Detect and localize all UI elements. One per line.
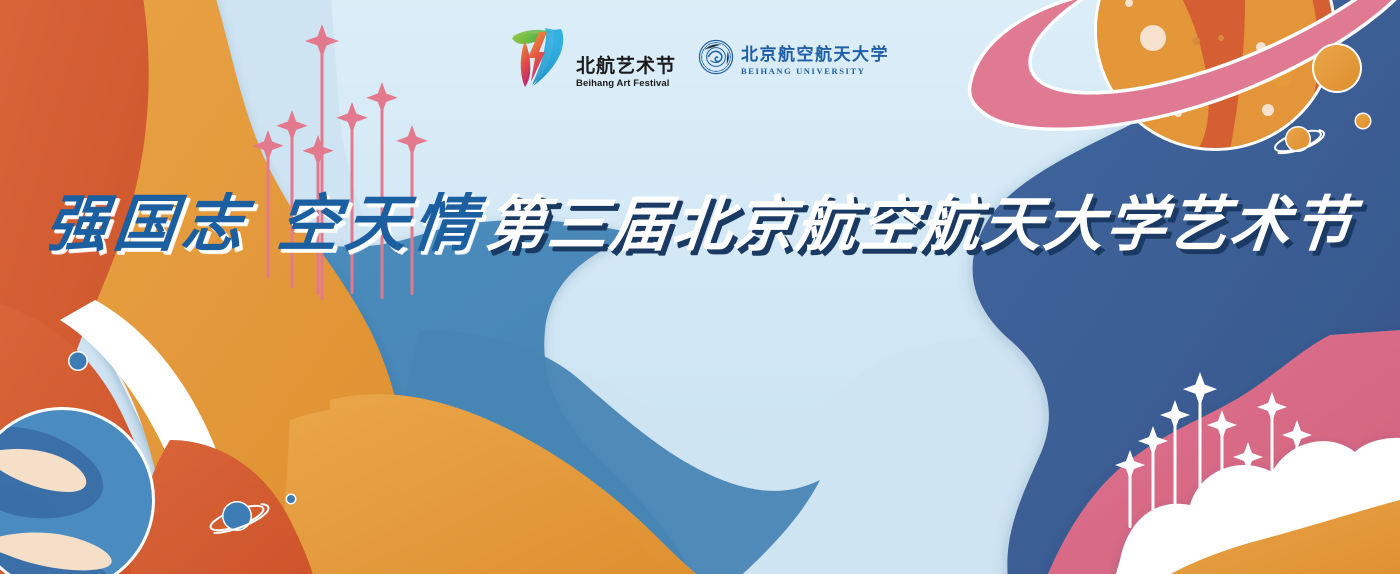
festival-logo-cn: 北航艺术节 [576, 57, 676, 76]
logo-bar: 北航艺术节 Beihang Art Festival [0, 26, 1400, 88]
university-logo-cn: 北京航空航天大学 [741, 46, 889, 63]
blue-dot-left [68, 351, 88, 371]
beihang-art-festival-swoosh-logo [511, 26, 569, 88]
university-logo[interactable]: 北京航空航天大学 BEIHANG UNIVERSITY [698, 39, 889, 75]
festival-logo[interactable]: 北航艺术节 Beihang Art Festival [511, 26, 676, 88]
blue-mini-dot-bottom-left [286, 494, 297, 505]
art-festival-banner: 北航艺术节 Beihang Art Festival [0, 0, 1400, 574]
orange-mini-planet-right [1355, 113, 1372, 130]
festival-logo-en: Beihang Art Festival [576, 79, 676, 89]
university-logo-en: BEIHANG UNIVERSITY [741, 67, 889, 76]
beihang-university-seal [698, 39, 734, 75]
